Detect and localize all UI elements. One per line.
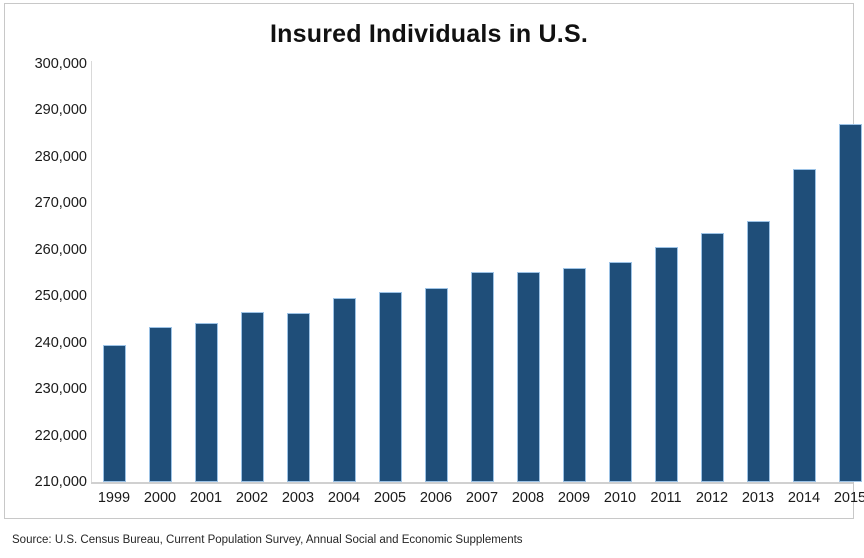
bar-2003[interactable] [287,313,310,482]
bar-2007[interactable] [471,272,494,482]
x-axis-tick-label: 2006 [420,490,452,506]
x-axis-tick-label: 2009 [558,490,590,506]
y-axis-tick-label: 210,000 [35,474,87,490]
x-axis-tick-label: 2012 [696,490,728,506]
y-axis-tick-label: 290,000 [35,102,87,118]
x-axis-tick-label: 2003 [282,490,314,506]
x-axis-tick-label: 2011 [650,490,681,506]
plot-area [91,64,851,482]
x-axis-tick-label: 1999 [98,490,130,506]
bar-2011[interactable] [655,247,678,482]
x-axis-tick-labels: 1999200020012002200320042005200620072008… [5,490,864,514]
chart-title: Insured Individuals in U.S. [5,20,853,49]
bar-2001[interactable] [195,323,218,482]
y-axis-tick-labels: 300,000290,000280,000270,000260,000250,0… [5,4,87,524]
x-axis-tick-label: 2005 [374,490,406,506]
bar-2009[interactable] [563,268,586,482]
x-axis-tick-label: 2002 [236,490,268,506]
bar-2002[interactable] [241,312,264,482]
bar-2015[interactable] [839,124,862,482]
bar-2012[interactable] [701,233,724,482]
bar-2005[interactable] [379,292,402,482]
bar-2006[interactable] [425,288,448,482]
x-axis-tick-label: 2000 [144,490,176,506]
y-axis-tick-label: 260,000 [35,242,87,258]
x-axis-tick-label: 2010 [604,490,636,506]
bar-2000[interactable] [149,327,172,482]
bar-1999[interactable] [103,345,126,482]
x-axis-tick-label: 2007 [466,490,498,506]
bar-2004[interactable] [333,298,356,482]
y-axis-tick-label: 300,000 [35,56,87,72]
x-axis-tick-label: 2001 [190,490,222,506]
y-axis-tick-label: 220,000 [35,428,87,444]
x-axis-tick-label: 2008 [512,490,544,506]
y-axis-tick-label: 240,000 [35,335,87,351]
x-axis-tick-label: 2015 [834,490,864,506]
bar-2010[interactable] [609,262,632,482]
x-axis-line [91,482,853,484]
source-note: Source: U.S. Census Bureau, Current Popu… [12,534,523,546]
bar-2013[interactable] [747,221,770,482]
chart-frame: Insured Individuals in U.S. 300,000290,0… [4,3,854,519]
x-axis-tick-label: 2013 [742,490,774,506]
x-axis-tick-label: 2014 [788,490,820,506]
x-axis-tick-label: 2004 [328,490,360,506]
y-axis-tick-label: 280,000 [35,149,87,165]
y-axis-tick-label: 230,000 [35,381,87,397]
y-axis-tick-label: 270,000 [35,195,87,211]
y-axis-tick-label: 250,000 [35,288,87,304]
bar-2008[interactable] [517,272,540,482]
bar-2014[interactable] [793,169,816,483]
